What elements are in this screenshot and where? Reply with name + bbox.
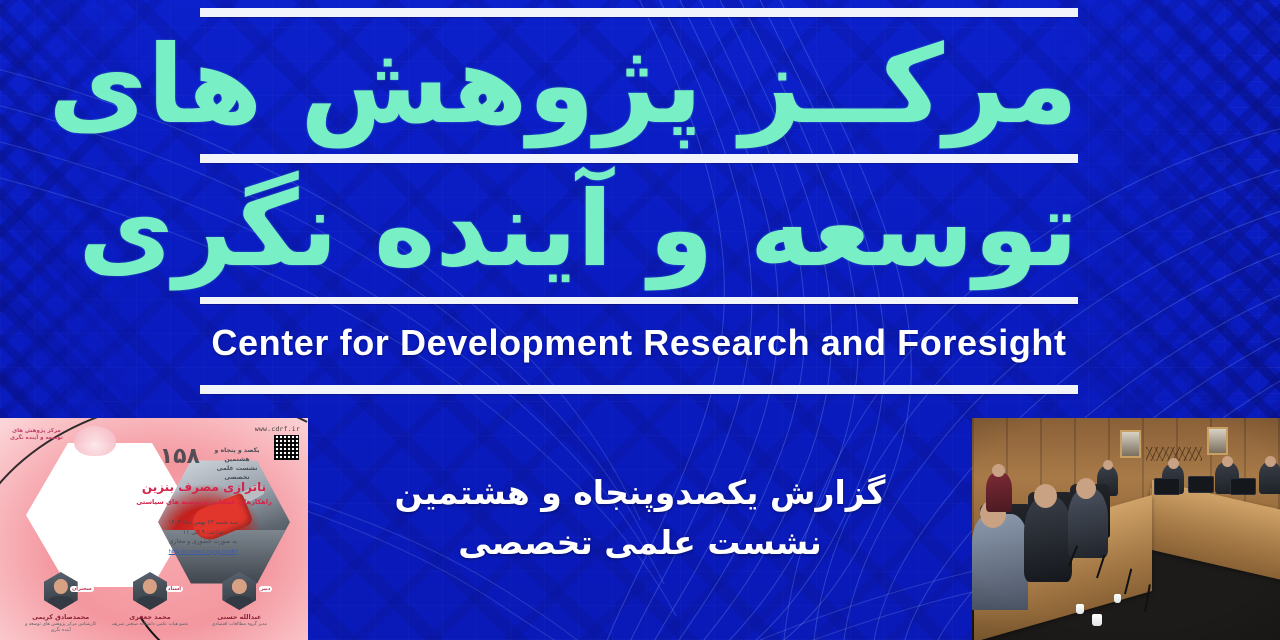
meeting-room-photo[interactable] <box>972 418 1280 640</box>
attendee <box>1024 496 1072 582</box>
poster-event-time: ساعت ۹ الی ۱۱ <box>138 528 268 538</box>
poster-speaker-list: سخنران محمدصادق کریمی کارشناس مرکز پژوهش… <box>16 572 284 634</box>
attendee-foreground <box>972 514 1028 610</box>
speaker-item: سخنران محمدصادق کریمی کارشناس مرکز پژوهش… <box>22 572 100 634</box>
monitor <box>1154 478 1180 495</box>
slide-canvas: مرکــز پژوهش های توسعه و آینده نگری Cent… <box>0 0 1280 640</box>
speaker-name: محمد جعفری <box>111 613 189 621</box>
poster-seal-emblem <box>74 426 116 456</box>
speaker-name: محمدصادق کریمی <box>22 613 100 621</box>
page-title-line1: مرکــز پژوهش های <box>200 16 1078 156</box>
wall-portrait-frame <box>1120 430 1141 458</box>
poster-event-date: سه شنبه ۲۳ بهمن ماه ۱۴۰۳ <box>138 518 268 528</box>
event-poster-thumbnail[interactable]: www.cdrf.ir مرکز پژوهش های توسعه و آینده… <box>0 418 308 640</box>
report-caption-line1: گزارش یکصدوپنجاه و هشتمین <box>330 468 950 518</box>
poster-session-label-line1: یکصد و پنجاه و هشتمین <box>204 446 270 464</box>
speaker-role: استاد <box>166 586 183 592</box>
speaker-item: دبیر عبدالله حسنی مدیر گروه مطالعات اقتص… <box>200 572 278 628</box>
poster-session-label: یکصد و پنجاه و هشتمین نشست علمی تخصصی <box>204 446 270 482</box>
poster-org-logo: مرکز پژوهش های توسعه و آینده نگری <box>10 428 63 442</box>
attendee-head <box>1103 460 1113 470</box>
divider-rule-bottom <box>200 385 1078 394</box>
avatar <box>133 572 167 610</box>
poster-title: ناترازی مصرف بنزین <box>134 480 274 494</box>
water-cup <box>1114 594 1121 603</box>
page-subtitle-english: Center for Development Research and Fore… <box>200 322 1078 364</box>
poster-event-link[interactable]: http://connect.irpng.ir/cdrf <box>138 548 268 558</box>
monitor <box>1188 476 1214 493</box>
speaker-name: عبدالله حسنی <box>200 613 278 621</box>
poster-session-number: ۱۵۸ <box>160 444 200 469</box>
monitor <box>1230 478 1256 495</box>
speaker-role: دبیر <box>259 586 273 592</box>
speaker-affiliation: کارشناس مرکز پژوهش های توسعه و آینده نگر… <box>22 622 100 634</box>
avatar <box>222 572 256 610</box>
poster-website-url: www.cdrf.ir <box>255 425 300 433</box>
poster-event-location: به صورت حضوری و مجازی <box>138 537 268 547</box>
divider-rule-under-title <box>200 297 1078 304</box>
speaker-affiliation: مدیر گروه مطالعات اقتصادی <box>200 622 278 628</box>
water-cup <box>1092 614 1102 626</box>
attendee-head <box>1168 458 1179 469</box>
attendee-head <box>1076 478 1096 499</box>
poster-org-logo-line1: مرکز پژوهش های <box>10 428 63 435</box>
speaker-role: سخنران <box>70 586 94 592</box>
speaker-item: استاد محمد جعفری عضو هیات علمی دانشگاه ص… <box>111 572 189 628</box>
report-caption-line2: نشست علمی تخصصی <box>330 518 950 568</box>
report-caption: گزارش یکصدوپنجاه و هشتمین نشست علمی تخصص… <box>330 468 950 568</box>
attendee-head <box>1265 456 1276 467</box>
poster-org-logo-line2: توسعه و آینده نگری <box>10 435 63 442</box>
water-cup <box>1076 604 1084 614</box>
attendee-head <box>992 464 1005 477</box>
attendee-head <box>1034 484 1057 508</box>
poster-event-meta: سه شنبه ۲۳ بهمن ماه ۱۴۰۳ ساعت ۹ الی ۱۱ ب… <box>138 518 268 557</box>
background-pattern-right <box>1050 0 1280 420</box>
attendee-head <box>1222 456 1233 467</box>
wall-portrait-frame <box>1207 427 1228 455</box>
speaker-affiliation: عضو هیات علمی دانشگاه صنعتی شریف <box>111 622 189 628</box>
page-title-line2: توسعه و آینده نگری <box>200 160 1078 298</box>
poster-subtitle: راهکارهای عملیاتی و توصیه های سیاستی <box>124 498 284 506</box>
qr-code-icon <box>274 435 299 460</box>
attendee-background <box>986 472 1012 512</box>
